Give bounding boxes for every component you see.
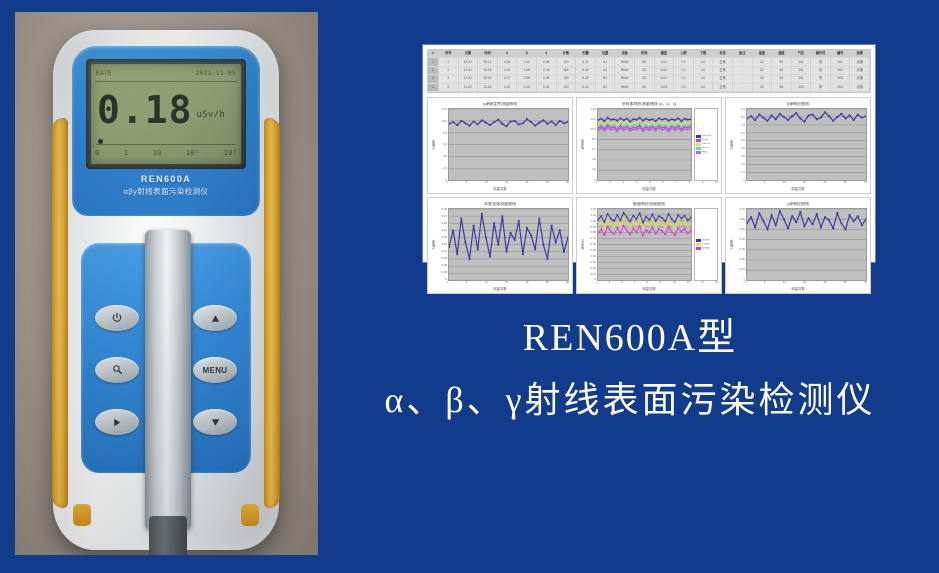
chart-gamma-response: γ源响应曲线计数率0.700.600.500.400.300.200.10015… xyxy=(725,197,871,294)
chart-x-axis-label: 测量次数 xyxy=(580,285,718,291)
power-button[interactable] xyxy=(95,305,139,331)
chart-series-line xyxy=(747,211,866,229)
table-header-cell: 下限 xyxy=(694,50,714,58)
table-cell: 22 xyxy=(753,67,773,75)
chart-legend: 高能段中能段低能段 xyxy=(694,208,718,281)
table-cell: 1 xyxy=(439,58,459,66)
table-cell: 正常 xyxy=(713,84,733,92)
table-cell: 1.10 xyxy=(517,84,537,92)
chart-y-tick: 8.0 xyxy=(734,116,745,119)
legend-swatch xyxy=(696,147,701,150)
side-grip-left xyxy=(52,118,68,508)
table-header-cell: # xyxy=(428,50,439,58)
legend-label: 本底 xyxy=(702,151,707,154)
table-cell: OK xyxy=(635,67,655,75)
legend-swatch xyxy=(696,239,701,242)
chart-body: 响应比1.201.101.000.900.800.700.600.500.400… xyxy=(580,208,718,281)
chart-x-axis-label: 测量次数 xyxy=(431,185,569,191)
table-cell: 0.22 xyxy=(576,75,596,83)
chart-body: 计数率0.300.270.240.210.180.150.120.090.060… xyxy=(431,208,569,281)
chart-y-ticks: 1.201.101.000.900.800.700.600.500.400.30… xyxy=(585,208,597,281)
legend-item: 本底 xyxy=(696,151,716,154)
table-row[interactable]: 4411-0211:150.201.100.341220.21B2R600OK0… xyxy=(428,84,870,92)
chart-y-tick: 0.30 xyxy=(734,248,745,251)
table-cell: 合格 xyxy=(850,67,870,75)
chart-y-axis-label: 响应值 xyxy=(580,108,585,181)
table-cell: B2 xyxy=(596,84,616,92)
software-dashboard-screenshot: #序号日期时间αβγ计数剂量位置设备校准偏差上限下限状态备注温度湿度气压操作员编… xyxy=(423,45,875,262)
chart-title: 能量响应测量曲线 xyxy=(580,202,718,206)
legend-item: Co-60 xyxy=(696,147,716,150)
legend-item: Am-241 xyxy=(696,135,716,138)
legend-label: Sr-90 xyxy=(702,139,708,142)
chart-y-tick: 0.24 xyxy=(436,222,447,225)
lcd-bargraph xyxy=(96,138,236,145)
table-cell: 2 xyxy=(439,67,459,75)
table-header-cell: 状态 xyxy=(713,50,733,58)
lcd-value: 0.18 xyxy=(97,91,193,129)
lcd-divider xyxy=(95,81,237,82)
table-cell: 10:05 xyxy=(478,67,498,75)
chart-series-line xyxy=(598,226,691,236)
menu-button-label: MENU xyxy=(203,366,228,375)
table-cell: 1.08 xyxy=(517,67,537,75)
device-neck xyxy=(63,180,269,240)
detector-device: RATE 2021-11-05 0.18 uSv/h 011010²10³ RE… xyxy=(53,30,279,550)
chart-y-tick: 10.0 xyxy=(585,128,596,131)
table-cell: B1 xyxy=(596,75,616,83)
table-cell: 11-02 xyxy=(459,75,479,83)
chart-plot-area xyxy=(597,208,692,281)
table-header-cell: 偏差 xyxy=(655,50,675,58)
table-cell: 0.35 xyxy=(537,58,557,66)
table-cell: 09:30 xyxy=(478,75,498,83)
chart-y-tick: 2.0 xyxy=(734,163,745,166)
table-header-cell: 湿度 xyxy=(772,50,792,58)
table-cell: 22 xyxy=(753,58,773,66)
table-cell: 0.36 xyxy=(537,75,557,83)
chart-y-axis-label: 计数率 xyxy=(729,208,734,281)
table-cell: OK xyxy=(635,84,655,92)
table-cell: R600 xyxy=(615,75,635,83)
measurement-data-table: #序号日期时间αβγ计数剂量位置设备校准偏差上限下限状态备注温度湿度气压操作员编… xyxy=(427,49,871,93)
chart-y-ticks: 14.012.010.08.06.04.02.00 xyxy=(585,108,597,181)
chart-y-tick: 0.40 xyxy=(585,255,596,258)
chart-y-tick: 0.40 xyxy=(734,238,745,241)
table-cell: 合格 xyxy=(850,58,870,66)
chart-x-axis-label: 测量次数 xyxy=(580,185,718,191)
table-cell: A2 xyxy=(596,67,616,75)
table-cell: 0.98 xyxy=(517,75,537,83)
chart-y-tick: 0.09 xyxy=(436,257,447,260)
table-cell: 101 xyxy=(792,58,812,66)
table-cell: 004 xyxy=(831,84,851,92)
table-row[interactable]: 3311-0209:300.170.980.361250.22B1R600OK0… xyxy=(428,75,870,83)
table-header-cell: 序号 xyxy=(439,50,459,58)
legend-label: Am-241 xyxy=(702,135,711,138)
chart-plot-area xyxy=(597,108,692,181)
legend-item: 高能段 xyxy=(696,239,716,242)
device-keypad: MENU xyxy=(81,243,251,473)
table-cell: 56 xyxy=(772,84,792,92)
chart-background-variation: 本底涨落测量曲线计数率0.300.270.240.210.180.150.120… xyxy=(427,197,573,294)
lcd-scale-tick: 10 xyxy=(153,149,162,157)
chart-y-tick: 4.0 xyxy=(734,147,745,150)
lcd-bezel: RATE 2021-11-05 0.18 uSv/h 011010²10³ xyxy=(86,59,246,169)
chart-title: 多核素响应测量曲线 (α、β、γ) xyxy=(580,102,718,106)
chart-y-tick: 14.0 xyxy=(585,108,596,111)
table-cell: 002 xyxy=(831,67,851,75)
table-cell: 正常 xyxy=(713,75,733,83)
chart-title: β源响应曲线 xyxy=(729,102,867,106)
chart-x-axis-label: 测量次数 xyxy=(729,185,867,191)
table-cell: 张 xyxy=(811,67,831,75)
chart-multi-nuclide: 多核素响应测量曲线 (α、β、γ)响应值14.012.010.08.06.04.… xyxy=(576,97,722,194)
chart-title: α源稳定性测量曲线 xyxy=(431,102,569,106)
chart-energy-response: 能量响应测量曲线响应比1.201.101.000.900.800.700.600… xyxy=(576,197,722,294)
legend-swatch xyxy=(696,139,701,142)
table-header-cell: 时间 xyxy=(478,50,498,58)
table-row-index: 3 xyxy=(428,75,439,83)
table-cell: 0.0 xyxy=(694,75,714,83)
table-header-cell: 位置 xyxy=(596,50,616,58)
chart-y-tick: 0.30 xyxy=(436,208,447,211)
legend-swatch xyxy=(696,143,701,146)
chart-y-ticks: 12.010.08.06.04.02.00 xyxy=(436,108,448,181)
table-cell: 0.01 xyxy=(655,75,675,83)
table-cell: 0.34 xyxy=(537,84,557,92)
table-cell: 0.0 xyxy=(694,58,714,66)
chart-y-tick: 5.0 xyxy=(734,139,745,142)
device-top-face: RATE 2021-11-05 0.18 uSv/h 011010²10³ RE… xyxy=(72,46,260,216)
table-cell: 0.0 xyxy=(694,67,714,75)
table-cell: 正常 xyxy=(713,67,733,75)
table-header-cell: 校准 xyxy=(635,50,655,58)
hand-strap-foot xyxy=(149,516,187,555)
table-cell: R600 xyxy=(615,84,635,92)
chart-y-tick: 0.10 xyxy=(585,273,596,276)
table-cell: 合格 xyxy=(850,84,870,92)
table-cell: 100 xyxy=(792,84,812,92)
table-header-cell: 温度 xyxy=(753,50,773,58)
legend-swatch xyxy=(696,151,701,154)
table-cell: 2.0 xyxy=(674,84,694,92)
table-header-cell: 日期 xyxy=(459,50,479,58)
table-header-cell: α xyxy=(498,50,518,58)
table-cell: 11-01 xyxy=(459,67,479,75)
table-cell: - xyxy=(733,84,753,92)
chart-y-tick: 0.21 xyxy=(436,229,447,232)
table-cell: 合格 xyxy=(850,75,870,83)
table-cell: 0.18 xyxy=(498,58,518,66)
chart-y-tick: 0.03 xyxy=(436,271,447,274)
chart-x-axis-label: 测量次数 xyxy=(729,285,867,291)
table-cell: 4 xyxy=(439,84,459,92)
down-button[interactable] xyxy=(193,409,237,435)
legend-label: Co-60 xyxy=(702,147,709,150)
table-cell: 0.19 xyxy=(498,67,518,75)
legend-item: Cs-137 xyxy=(696,143,716,146)
chart-y-tick: 0.50 xyxy=(585,249,596,252)
chart-y-tick: 0.60 xyxy=(585,243,596,246)
chart-y-tick: 0.70 xyxy=(585,237,596,240)
legend-item: 低能段 xyxy=(696,247,716,250)
table-cell: 李 xyxy=(811,84,831,92)
chart-plot-area xyxy=(746,208,867,281)
table-header-cell: 操作员 xyxy=(811,50,831,58)
power-icon xyxy=(111,312,123,324)
table-cell: - xyxy=(733,67,753,75)
table-cell: - xyxy=(733,58,753,66)
lcd-status-right: 2021-11-05 xyxy=(196,70,236,77)
chart-y-ticks: 9.08.07.06.05.04.03.02.01.00 xyxy=(734,108,746,181)
table-cell: 122 xyxy=(557,84,577,92)
table-cell: 2.0 xyxy=(674,75,694,83)
chart-y-tick: 0.80 xyxy=(585,231,596,234)
table-cell: 55 xyxy=(772,58,792,66)
table-cell: 0.17 xyxy=(498,75,518,83)
legend-label: 高能段 xyxy=(702,239,710,242)
title-block: REN600A型 α、β、γ射线表面污染检测仪 xyxy=(330,318,930,498)
legend-item: Sr-90 xyxy=(696,139,716,142)
chart-y-tick: 0.10 xyxy=(734,268,745,271)
lcd-status-left: RATE xyxy=(96,70,112,77)
chart-y-tick: 0.50 xyxy=(734,228,745,231)
lcd-scale-tick: 0 xyxy=(95,149,99,157)
table-header-cell: β xyxy=(517,50,537,58)
product-model-title: REN600A型 xyxy=(330,318,930,360)
chart-y-tick: 0.12 xyxy=(436,250,447,253)
lcd-reading: 0.18 uSv/h xyxy=(97,84,237,136)
legend-swatch xyxy=(696,247,701,250)
chart-y-ticks: 0.300.270.240.210.180.150.120.090.060.03… xyxy=(436,208,448,281)
device-desc-label: αβγ射线表面污染检测仪 xyxy=(72,186,260,197)
chart-y-tick: 0.70 xyxy=(734,208,745,211)
table-cell: 0.03 xyxy=(655,84,675,92)
table-row[interactable]: 1111-0109:120.181.020.351200.21A1R600OK0… xyxy=(428,58,870,66)
table-row-index: 4 xyxy=(428,84,439,92)
chart-grid: α源稳定性测量曲线计数率12.010.08.06.04.02.001510152… xyxy=(427,97,871,294)
chart-y-ticks: 0.700.600.500.400.300.200.100 xyxy=(734,208,746,281)
legend-label: 低能段 xyxy=(702,247,710,250)
chart-y-tick: 7.0 xyxy=(734,124,745,127)
chart-y-tick: 0.27 xyxy=(436,215,447,218)
device-foot-left xyxy=(73,504,91,526)
lcd-scale-tick: 10² xyxy=(186,149,199,157)
triangle-down-icon xyxy=(209,417,222,428)
chart-beta-response: β源响应曲线计数率9.08.07.06.05.04.03.02.01.00151… xyxy=(725,97,871,194)
table-cell: 53 xyxy=(772,75,792,83)
chart-y-tick: 2.0 xyxy=(585,168,596,171)
chart-y-axis-label: 计数率 xyxy=(729,108,734,181)
table-cell: 101 xyxy=(792,75,812,83)
table-header-row: #序号日期时间αβγ计数剂量位置设备校准偏差上限下限状态备注温度湿度气压操作员编… xyxy=(428,50,870,58)
lcd-status-row: RATE 2021-11-05 xyxy=(96,67,236,80)
table-cell: 23 xyxy=(753,75,773,83)
table-cell: 001 xyxy=(831,58,851,66)
table-cell: R600 xyxy=(615,67,635,75)
chart-y-tick: 0.20 xyxy=(585,267,596,270)
table-cell: 23 xyxy=(753,84,773,92)
up-button[interactable] xyxy=(193,305,237,331)
table-cell: 101 xyxy=(792,67,812,75)
chart-y-tick: 12.0 xyxy=(585,118,596,121)
chart-y-tick: 1.10 xyxy=(585,214,596,217)
table-cell: 120 xyxy=(557,58,577,66)
chart-y-tick: 6.0 xyxy=(734,132,745,135)
chart-y-tick: 9.0 xyxy=(734,108,745,111)
chart-y-tick: 0.60 xyxy=(734,218,745,221)
chart-series-line xyxy=(598,118,691,122)
table-row[interactable]: 2211-0110:050.191.080.331180.20A2R600OK0… xyxy=(428,67,870,75)
table-cell: 11-02 xyxy=(459,84,479,92)
table-cell: 003 xyxy=(831,75,851,83)
lcd-scale: 011010²10³ xyxy=(95,146,237,160)
chart-plot-area xyxy=(746,108,867,181)
table-cell: 正常 xyxy=(713,58,733,66)
table-cell: 2.0 xyxy=(674,58,694,66)
table-header-cell: γ xyxy=(537,50,557,58)
table-cell: 0.20 xyxy=(576,67,596,75)
chart-y-tick: 10.0 xyxy=(436,120,447,123)
chart-y-tick: 0.90 xyxy=(585,226,596,229)
table-cell: 1.02 xyxy=(517,58,537,66)
table-header-cell: 剂量 xyxy=(576,50,596,58)
table-cell: 54 xyxy=(772,67,792,75)
lcd-bargraph-marker xyxy=(98,139,103,144)
chart-body: 响应值14.012.010.08.06.04.02.00Am-241Sr-90C… xyxy=(580,108,718,181)
chart-title: γ源响应曲线 xyxy=(729,202,867,206)
table-row-index: 1 xyxy=(428,58,439,66)
chart-y-tick: 1.00 xyxy=(585,220,596,223)
chart-y-tick: 8.0 xyxy=(436,132,447,135)
chart-y-axis-label: 计数率 xyxy=(431,208,436,281)
table-header-cell: 编号 xyxy=(831,50,851,58)
product-name-title: α、β、γ射线表面污染检测仪 xyxy=(330,380,930,421)
table-header-cell: 上限 xyxy=(674,50,694,58)
chart-y-axis-label: 响应比 xyxy=(580,208,585,281)
table-cell: 0.21 xyxy=(576,84,596,92)
table-header-cell: 气压 xyxy=(792,50,812,58)
chart-y-tick: 0.30 xyxy=(585,261,596,264)
table-cell: A1 xyxy=(596,58,616,66)
table-cell: 张 xyxy=(811,58,831,66)
lcd-unit: uSv/h xyxy=(197,110,226,120)
chart-y-tick: 6.0 xyxy=(585,148,596,151)
side-grip-right xyxy=(264,118,280,508)
device-silkscreen: REN600A αβγ射线表面污染检测仪 xyxy=(72,174,260,197)
menu-button[interactable]: MENU xyxy=(193,357,237,383)
play-button[interactable] xyxy=(95,409,139,435)
table-cell: 3 xyxy=(439,75,459,83)
chart-legend: Am-241Sr-90Cs-137Co-60本底 xyxy=(694,108,718,181)
table-header-cell: 设备 xyxy=(615,50,635,58)
keypad-column-right: MENU xyxy=(193,305,237,435)
table-header-cell: 备注 xyxy=(733,50,753,58)
table-cell: 11-01 xyxy=(459,58,479,66)
table-cell: 11:15 xyxy=(478,84,498,92)
table-cell: 09:12 xyxy=(478,58,498,66)
chart-y-axis-label: 计数率 xyxy=(431,108,436,181)
magnifier-icon xyxy=(111,364,124,376)
legend-label: Cs-137 xyxy=(702,143,710,146)
legend-item: 中能段 xyxy=(696,243,716,246)
product-photo: RATE 2021-11-05 0.18 uSv/h 011010²10³ RE… xyxy=(15,12,318,555)
table-header-cell: 计数 xyxy=(557,50,577,58)
chart-x-axis-label: 测量次数 xyxy=(431,285,569,291)
triangle-up-icon xyxy=(209,313,222,324)
chart-plot-area xyxy=(448,108,569,181)
table-cell: 0.0 xyxy=(694,84,714,92)
table-cell: R600 xyxy=(615,58,635,66)
table-cell: 125 xyxy=(557,75,577,83)
chart-y-tick: 0.06 xyxy=(436,264,447,267)
table-header-cell: 结果 xyxy=(850,50,870,58)
device-foot-right xyxy=(241,504,259,526)
chart-y-tick: 0.18 xyxy=(436,236,447,239)
lcd-scale-tick: 10³ xyxy=(224,149,237,157)
chart-body: 计数率0.700.600.500.400.300.200.100 xyxy=(729,208,867,281)
table-row-index: 2 xyxy=(428,67,439,75)
lcd-scale-tick: 1 xyxy=(124,149,128,157)
device-model-label: REN600A xyxy=(72,174,260,184)
table-cell: 李 xyxy=(811,75,831,83)
keypad-column-left xyxy=(95,305,139,435)
legend-swatch xyxy=(696,135,701,138)
chart-title: 本底涨落测量曲线 xyxy=(431,202,569,206)
table-cell: 0.01 xyxy=(655,58,675,66)
chart-y-tick: 6.0 xyxy=(436,143,447,146)
chart-y-tick: 4.0 xyxy=(436,155,447,158)
chart-y-tick: 0.15 xyxy=(436,243,447,246)
table-cell: 0.21 xyxy=(576,58,596,66)
hand-strap xyxy=(145,230,191,530)
chart-alpha-stability: α源稳定性测量曲线计数率12.010.08.06.04.02.001510152… xyxy=(427,97,573,194)
table-cell: 0.33 xyxy=(537,67,557,75)
table-cell: 0.02 xyxy=(655,67,675,75)
table-cell: OK xyxy=(635,58,655,66)
table-cell: OK xyxy=(635,75,655,83)
table-cell: - xyxy=(733,75,753,83)
play-icon xyxy=(111,417,123,428)
table-cell: 2.0 xyxy=(674,67,694,75)
legend-label: 中能段 xyxy=(702,243,710,246)
chart-y-tick: 4.0 xyxy=(585,158,596,161)
lcd-screen: RATE 2021-11-05 0.18 uSv/h 011010²10³ xyxy=(91,64,241,164)
chart-body: 计数率12.010.08.06.04.02.00 xyxy=(431,108,569,181)
legend-swatch xyxy=(696,243,701,246)
chart-y-tick: 3.0 xyxy=(734,155,745,158)
chart-y-tick: 1.0 xyxy=(734,171,745,174)
chart-y-tick: 0.20 xyxy=(734,258,745,261)
chart-y-tick: 12.0 xyxy=(436,108,447,111)
search-button[interactable] xyxy=(95,357,139,383)
chart-series-line xyxy=(449,119,568,126)
chart-y-tick: 1.20 xyxy=(585,208,596,211)
table-cell: 118 xyxy=(557,67,577,75)
chart-plot-area xyxy=(448,208,569,281)
chart-series-line xyxy=(449,214,568,259)
chart-body: 计数率9.08.07.06.05.04.03.02.01.00 xyxy=(729,108,867,181)
chart-y-tick: 8.0 xyxy=(585,138,596,141)
table-cell: 0.20 xyxy=(498,84,518,92)
chart-y-tick: 2.0 xyxy=(436,167,447,170)
